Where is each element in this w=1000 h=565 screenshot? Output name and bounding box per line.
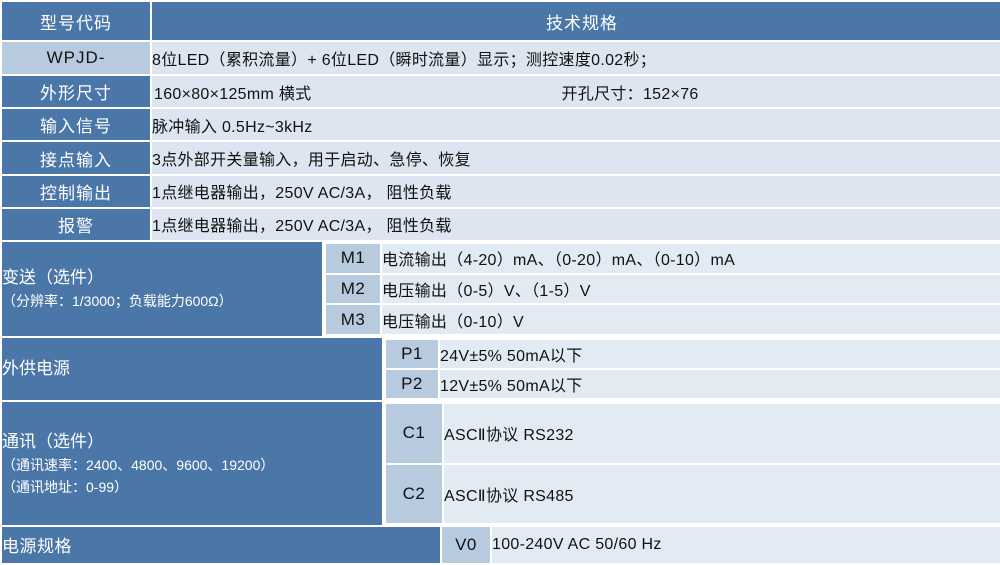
specification-table: 型号代码 技术规格 WPJD- 8位LED（累积流量）+ 6位LED（瞬时流量）…: [0, 0, 1000, 565]
communication-code-c2: C2: [386, 465, 442, 523]
contact-input-label: 接点输入: [2, 142, 150, 173]
input-signal-value: 脉冲输入 0.5Hz~3kHz: [152, 109, 1000, 140]
table-row-alarm: 报警 1点继电器输出，250V AC/3A， 阻性负载: [2, 209, 1000, 240]
external-power-code-p1: P1: [386, 340, 438, 368]
transmitter-code-m1: M1: [326, 244, 380, 273]
communication-value-c1: ASCⅡ协议 RS232: [444, 404, 1000, 462]
communication-label-cell: 通讯（选件） （通讯速率：2400、4800、9600、19200） （通讯地址…: [2, 402, 382, 524]
external-power-option-row: P2 12V±5% 50mA以下: [386, 370, 1000, 398]
transmitter-sublabel: （分辨率：1/3000；负载能力600Ω）: [2, 291, 322, 313]
header-spec-column: 技术规格: [152, 2, 1000, 40]
transmitter-option-row: M3 电压输出（0-10）V: [326, 305, 1000, 334]
transmitter-code-m2: M2: [326, 275, 380, 304]
cutout-dimensions-value: 开孔尺寸：152×76: [561, 80, 698, 104]
model-code-label: WPJD-: [2, 42, 150, 74]
communication-sublabel-baud: （通讯速率：2400、4800、9600、19200）: [2, 455, 382, 477]
external-power-value-p1: 24V±5% 50mA以下: [440, 340, 1000, 368]
communication-options-cell: C1 ASCⅡ协议 RS232 C2 ASCⅡ协议 RS485: [384, 402, 1000, 524]
external-power-label-cell: 外供电源: [2, 338, 382, 400]
communication-options-table: C1 ASCⅡ协议 RS232 C2 ASCⅡ协议 RS485: [384, 402, 1000, 524]
table-header-row: 型号代码 技术规格: [2, 2, 1000, 40]
table-row-transmitter: 变送（选件） （分辨率：1/3000；负载能力600Ω） M1 电流输出（4-2…: [2, 242, 1000, 336]
header-code-column: 型号代码: [2, 2, 150, 40]
transmitter-options-cell: M1 电流输出（4-20）mA、（0-20）mA、（0-10）mA M2 电压输…: [324, 242, 1000, 336]
transmitter-option-row: M2 电压输出（0-5）V、（1-5）V: [326, 275, 1000, 304]
transmitter-value-m2: 电压输出（0-5）V、（1-5）V: [382, 275, 1000, 304]
external-power-options-table: P1 24V±5% 50mA以下 P2 12V±5% 50mA以下: [384, 338, 1000, 400]
table-row-dimensions: 外形尺寸 160×80×125mm 横式 开孔尺寸：152×76: [2, 76, 1000, 107]
transmitter-label-cell: 变送（选件） （分辨率：1/3000；负载能力600Ω）: [2, 242, 322, 336]
transmitter-label: 变送（选件）: [2, 268, 104, 287]
table-row-communication: 通讯（选件） （通讯速率：2400、4800、9600、19200） （通讯地址…: [2, 402, 1000, 524]
transmitter-code-m3: M3: [326, 305, 380, 334]
alarm-label: 报警: [2, 209, 150, 240]
alarm-value: 1点继电器输出，250V AC/3A， 阻性负载: [152, 209, 1000, 240]
power-spec-code-v0: V0: [442, 527, 490, 563]
table-row-control-output: 控制输出 1点继电器输出，250V AC/3A， 阻性负载: [2, 176, 1000, 207]
communication-option-row: C1 ASCⅡ协议 RS232: [386, 404, 1000, 462]
transmitter-options-table: M1 电流输出（4-20）mA、（0-20）mA、（0-10）mA M2 电压输…: [324, 242, 1000, 336]
communication-option-row: C2 ASCⅡ协议 RS485: [386, 465, 1000, 523]
contact-input-value: 3点外部开关量输入，用于启动、急停、恢复: [152, 142, 1000, 173]
external-power-code-p2: P2: [386, 370, 438, 398]
table-row-input-signal: 输入信号 脉冲输入 0.5Hz~3kHz: [2, 109, 1000, 140]
external-power-label: 外供电源: [2, 359, 70, 378]
external-power-options-cell: P1 24V±5% 50mA以下 P2 12V±5% 50mA以下: [384, 338, 1000, 400]
control-output-label: 控制输出: [2, 176, 150, 207]
communication-value-c2: ASCⅡ协议 RS485: [444, 465, 1000, 523]
table-row-power-spec: 电源规格 V0 100-240V AC 50/60 Hz: [2, 527, 1000, 563]
power-spec-value: 100-240V AC 50/60 Hz: [492, 527, 1000, 563]
transmitter-value-m1: 电流输出（4-20）mA、（0-20）mA、（0-10）mA: [382, 244, 1000, 273]
model-description: 8位LED（累积流量）+ 6位LED（瞬时流量）显示；测控速度0.02秒；: [152, 42, 1000, 74]
table-row-contact-input: 接点输入 3点外部开关量输入，用于启动、急停、恢复: [2, 142, 1000, 173]
dimensions-value: 160×80×125mm 横式: [152, 80, 311, 104]
dimensions-value-cell: 160×80×125mm 横式 开孔尺寸：152×76: [152, 76, 1000, 107]
transmitter-value-m3: 电压输出（0-10）V: [382, 305, 1000, 334]
communication-label: 通讯（选件）: [2, 432, 104, 451]
dimensions-label: 外形尺寸: [2, 76, 150, 107]
external-power-option-row: P1 24V±5% 50mA以下: [386, 340, 1000, 368]
external-power-value-p2: 12V±5% 50mA以下: [440, 370, 1000, 398]
input-signal-label: 输入信号: [2, 109, 150, 140]
table-row-model: WPJD- 8位LED（累积流量）+ 6位LED（瞬时流量）显示；测控速度0.0…: [2, 42, 1000, 74]
communication-sublabel-address: （通讯地址：0-99）: [2, 477, 382, 499]
communication-code-c1: C1: [386, 404, 442, 462]
transmitter-option-row: M1 电流输出（4-20）mA、（0-20）mA、（0-10）mA: [326, 244, 1000, 273]
control-output-value: 1点继电器输出，250V AC/3A， 阻性负载: [152, 176, 1000, 207]
table-row-external-power: 外供电源 P1 24V±5% 50mA以下 P2 12V±5% 50mA以下: [2, 338, 1000, 400]
power-spec-label: 电源规格: [2, 527, 440, 563]
